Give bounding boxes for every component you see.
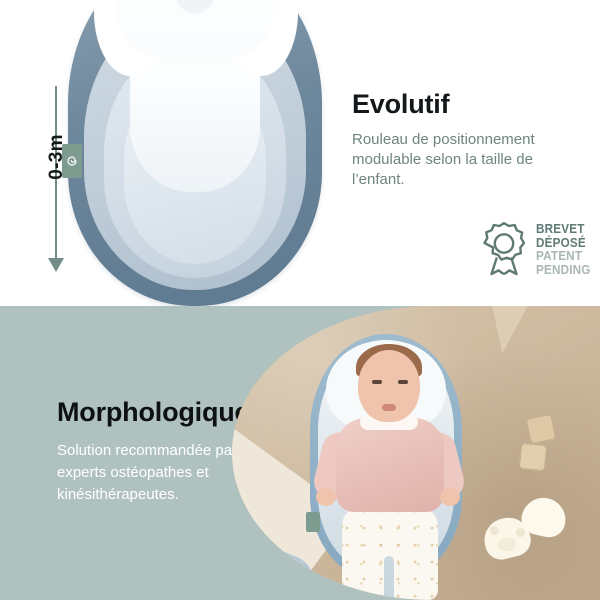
baby-legs-gap <box>384 556 394 600</box>
baby-face <box>358 350 420 422</box>
photo-brand-tag <box>306 512 320 532</box>
baby-eye-left <box>372 380 382 384</box>
top-panel-evolutif: 0-3m Evolutif Rouleau de positionnement … <box>0 0 600 306</box>
baby-hand-left <box>316 488 336 506</box>
spiral-logo-icon <box>62 144 82 178</box>
badge-line-depose: DÉPOSÉ <box>536 236 591 250</box>
rosette-medal-icon <box>478 220 530 278</box>
bootie-ear-right <box>516 528 525 537</box>
evolutif-copy-block: Evolutif Rouleau de positionnement modul… <box>352 90 584 190</box>
product-cushion-illustration <box>68 0 322 306</box>
bootie-ear-left <box>490 526 499 535</box>
baby-hand-right <box>440 488 460 506</box>
badge-line-brevet: BREVET <box>536 222 591 236</box>
badge-line-patent: PATENT <box>536 249 591 263</box>
evolutif-heading: Evolutif <box>352 90 584 118</box>
badge-line-pending: PENDING <box>536 263 591 277</box>
baby-mouth <box>382 404 396 411</box>
down-arrow-icon <box>48 258 64 272</box>
product-feature-graphic: 0-3m Evolutif Rouleau de positionnement … <box>0 0 600 600</box>
patent-pending-badge: BREVET DÉPOSÉ PATENT PENDING <box>478 216 590 282</box>
baby-pink-top <box>336 418 444 512</box>
wooden-block-bottom <box>519 443 548 472</box>
wooden-block-top <box>526 414 557 445</box>
fabric-cone-decor <box>473 306 544 358</box>
badge-text-block: BREVET DÉPOSÉ PATENT PENDING <box>536 222 597 276</box>
evolutif-body-text: Rouleau de positionnement modulable selo… <box>352 130 584 190</box>
bottom-panel-morphologique: Morphologique Solution recommandée par n… <box>0 306 600 600</box>
bootie-bear-face <box>498 538 516 551</box>
baby-in-cushion-photo <box>232 306 600 600</box>
baby-eye-right <box>398 380 408 384</box>
